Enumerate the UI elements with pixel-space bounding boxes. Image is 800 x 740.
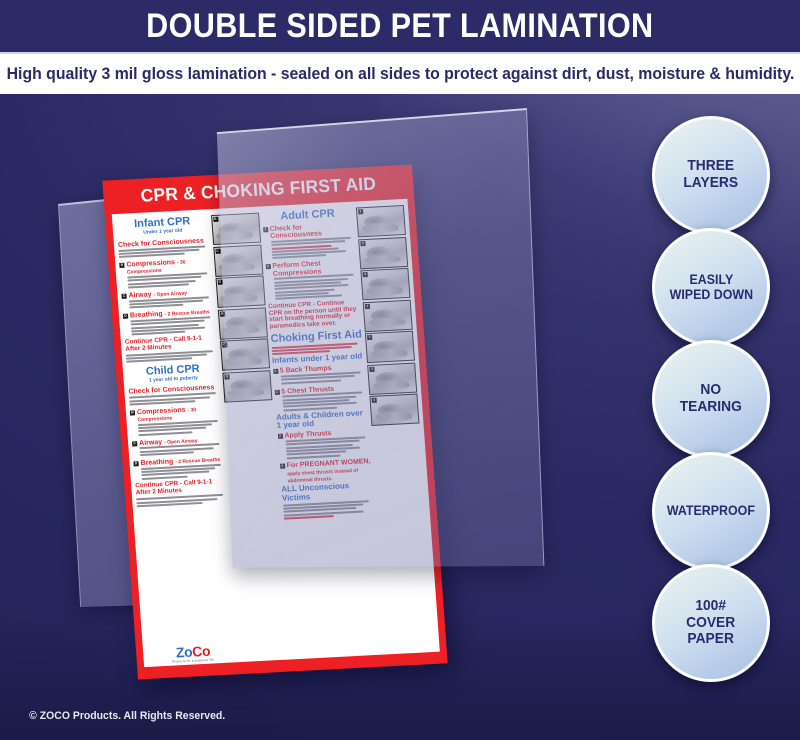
step-body	[130, 316, 215, 336]
zoco-logo: ZoCo	[175, 643, 210, 659]
section-sub-adults-children: Adults & Children over 1 year old	[276, 409, 369, 431]
thumbnail-label: 1	[365, 303, 370, 308]
step-block: B Compressions - 30 Compressions	[119, 257, 212, 290]
illustration-thumbnail: 1	[363, 299, 413, 331]
badge-label: WATERPROOF	[661, 503, 760, 518]
poster-content: Infant CPR Under 1 year old Check for Co…	[112, 199, 440, 667]
step-title: For PREGNANT WOMEN, apply chest thrusts …	[286, 458, 372, 484]
illustration-thumbnail: D	[215, 275, 265, 307]
header-band: DOUBLE SIDED PET LAMINATION	[0, 0, 800, 52]
cpr-poster: CPR & CHOKING FIRST AID Infant CPR Under…	[102, 165, 447, 680]
step-block: 2 Perform Chest Compressions	[265, 259, 359, 302]
thumbnail-label: 3	[369, 366, 374, 371]
illustration-thumbnail: 3	[367, 362, 417, 394]
step-marker: 4	[280, 464, 285, 469]
thumbnail-label: B	[213, 217, 218, 222]
feature-badge-waterproof: WATERPROOF	[652, 452, 770, 570]
step-block: 1 Check for Consciousness	[262, 221, 356, 261]
thumbnail-label: D	[217, 280, 222, 285]
subtitle-text: High quality 3 mil gloss lamination - se…	[6, 64, 794, 84]
illustration-thumbnail: D	[222, 370, 272, 402]
step-marker: C	[132, 441, 137, 446]
step-marker: 3	[277, 434, 282, 439]
step-block: Check for Consciousness	[118, 237, 211, 259]
step-block: 1 5 Back Thumps	[273, 364, 366, 386]
step-block: B Compressions - 30 Compressions	[130, 404, 223, 437]
badge-label: EASILY WIPED DOWN	[664, 272, 759, 302]
thumbnail-label: 1	[358, 209, 363, 214]
illustration-thumbnail: 1	[356, 205, 406, 237]
step-marker: C	[121, 293, 126, 298]
page-title: DOUBLE SIDED PET LAMINATION	[146, 7, 653, 46]
header-divider	[0, 52, 800, 54]
step-body	[273, 274, 359, 300]
step-block: C Airway - Open Airway	[132, 435, 225, 457]
illustration-thumbnail: 2	[358, 236, 408, 268]
step-marker: 1	[263, 227, 268, 232]
poster-red-border: CPR & CHOKING FIRST AID Infant CPR Under…	[102, 165, 447, 680]
logo-tagline: Products for a prepared life.	[172, 657, 215, 663]
illustration-thumbnail: 2	[365, 331, 415, 363]
step-block: Check for Consciousness	[128, 384, 221, 406]
step-block: C Airway - Open Airway	[121, 288, 214, 310]
illustration-thumbnail: C	[213, 244, 263, 276]
feature-badge-cover-paper: 100# COVER PAPER	[652, 564, 770, 682]
illustration-thumbnail: 3	[360, 268, 410, 300]
step-marker: 1	[273, 369, 278, 374]
step-marker: D	[123, 314, 128, 319]
step-block: D Breathing - 2 Rescue Breaths	[133, 455, 226, 481]
logo-zo: Zo	[175, 643, 192, 660]
thumbnail-label: 2	[367, 335, 372, 340]
badge-label: 100# COVER PAPER	[681, 598, 741, 648]
thumbnail-label: 3	[363, 272, 368, 277]
badge-label: THREE LAYERS	[678, 158, 744, 192]
unconscious-body	[282, 500, 375, 521]
product-marketing-image: DOUBLE SIDED PET LAMINATION High quality…	[0, 0, 800, 740]
thumbnail-label: 2	[360, 241, 365, 246]
copyright-notice: © ZOCO Products. All Rights Reserved.	[29, 710, 225, 722]
badge-label: NO TEARING	[674, 382, 747, 416]
subheader-band: High quality 3 mil gloss lamination - se…	[0, 54, 800, 94]
illustration-thumbnail: 4	[369, 394, 419, 426]
poster-logo: ZoCo Products for a prepared life.	[147, 639, 240, 665]
step-marker: 2	[274, 389, 279, 394]
step-marker: 2	[265, 264, 270, 269]
laminate-composition: CPR & CHOKING FIRST AID Infant CPR Under…	[0, 94, 620, 714]
step-marker: B	[130, 410, 135, 415]
thumbnail-label: C	[215, 248, 220, 253]
thumbnail-label: B	[219, 311, 224, 316]
step-body	[271, 237, 357, 260]
illustration-thumbnail: B	[211, 213, 261, 245]
thumbnail-label: D	[224, 374, 229, 379]
feature-badge-three-layers: THREE LAYERS	[652, 116, 770, 234]
illustration-thumbnail: C	[220, 338, 270, 370]
logo-co: Co	[192, 642, 211, 659]
feature-badge-easily-wiped: EASILY WIPED DOWN	[652, 228, 770, 346]
step-marker: B	[119, 263, 124, 268]
step-body	[285, 436, 371, 459]
step-block: D Breathing - 2 Rescue Breaths	[123, 308, 216, 337]
feature-badge-no-tearing: NO TEARING	[652, 340, 770, 458]
feature-badge-list: THREE LAYERS EASILY WIPED DOWN NO TEARIN…	[652, 116, 782, 676]
thumbnail-label: 4	[372, 398, 377, 403]
step-block: 3 Apply Thrusts	[277, 428, 370, 460]
continue-note: Continue CPR - Continue CPR on the perso…	[268, 299, 361, 331]
thumbnail-label: C	[222, 342, 227, 347]
illustration-thumbnail: B	[217, 307, 267, 339]
step-marker: D	[133, 461, 138, 466]
